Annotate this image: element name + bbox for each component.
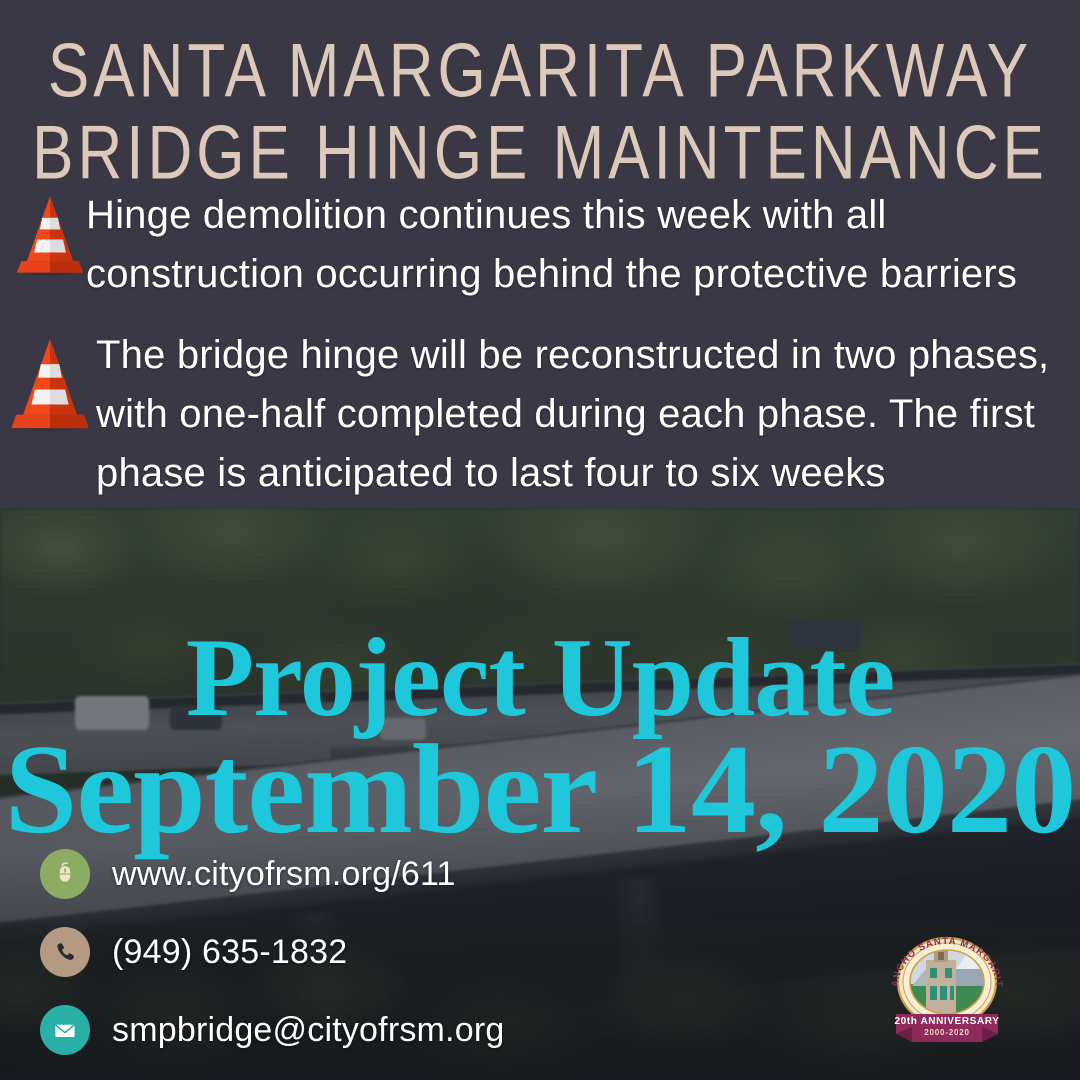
traffic-cone-icon (14, 192, 86, 283)
contact-row-website[interactable]: www.cityofrsm.org/611 (40, 846, 504, 902)
contact-row-email[interactable]: smpbridge@cityofrsm.org (40, 1002, 504, 1058)
bullet-list: Hinge demolition continues this week wit… (0, 186, 1080, 525)
contact-list: www.cityofrsm.org/611 (949) 635-1832 smp… (40, 846, 504, 1058)
list-item-text: Hinge demolition continues this week wit… (86, 186, 1080, 304)
list-item: Hinge demolition continues this week wit… (0, 186, 1080, 304)
traffic-cone-icon (8, 334, 92, 440)
contact-value-website[interactable]: www.cityofrsm.org/611 (112, 855, 456, 894)
list-item: The bridge hinge will be reconstructed i… (0, 326, 1080, 503)
city-seal-logo: RANCHO SANTA MARGARITA 20th ANNIVERSARY … (882, 930, 1012, 1048)
contact-value-phone[interactable]: (949) 635-1832 (112, 933, 347, 972)
list-item-text: The bridge hinge will be reconstructed i… (96, 326, 1080, 503)
mouse-icon (40, 849, 90, 899)
contact-value-email[interactable]: smpbridge@cityofrsm.org (112, 1011, 504, 1050)
page-title: SANTA MARGARITA PARKWAY BRIDGE HINGE MAI… (0, 22, 1080, 186)
poster-canvas: SANTA MARGARITA PARKWAY BRIDGE HINGE MAI… (0, 0, 1080, 1080)
envelope-icon (40, 1005, 90, 1055)
seal-banner-text: 20th ANNIVERSARY (895, 1016, 1000, 1027)
phone-icon (40, 927, 90, 977)
seal-years-text: 2000-2020 (924, 1028, 969, 1037)
contact-row-phone[interactable]: (949) 635-1832 (40, 924, 504, 980)
